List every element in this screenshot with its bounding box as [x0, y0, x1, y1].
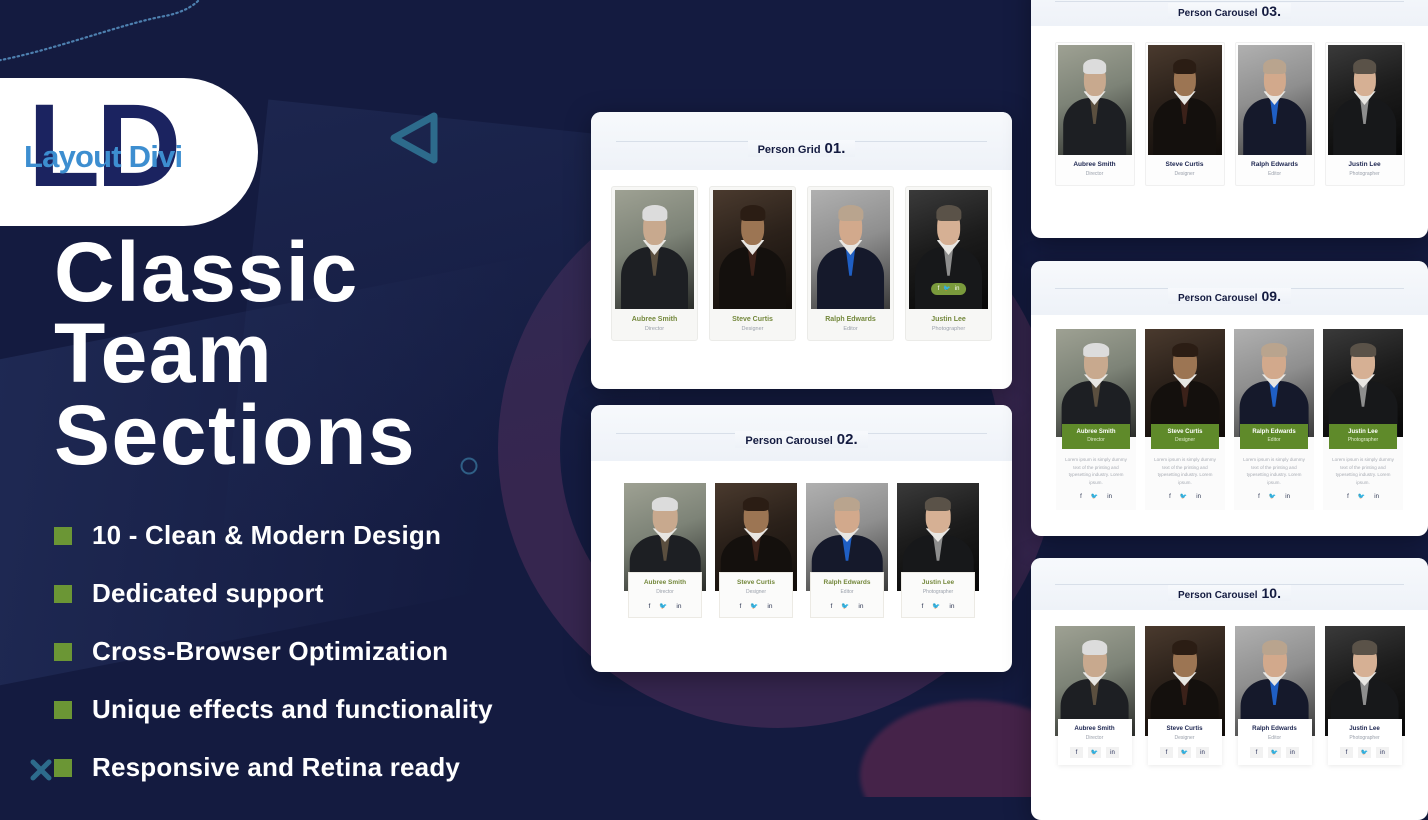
social-links: f🐦in [631, 602, 699, 610]
card-title-number: 09. [1262, 288, 1281, 304]
card-title-label: Person Carousel [1178, 8, 1257, 19]
social-links: f🐦in [1150, 747, 1220, 758]
person-name: Steve Curtis [1153, 429, 1217, 435]
card-body: Aubree SmithDirectorf🐦inSteve CurtisDesi… [591, 461, 1012, 618]
linkedin-icon[interactable]: in [1106, 747, 1119, 758]
person-name: Aubree Smith [1060, 725, 1130, 732]
bullet-square-icon [54, 643, 72, 661]
facebook-icon[interactable]: f [649, 602, 651, 610]
card-header: Person Carousel 09. [1031, 261, 1428, 315]
twitter-icon[interactable]: 🐦 [659, 602, 667, 610]
person-name: Steve Curtis [722, 579, 790, 586]
person-tile[interactable]: Ralph EdwardsEditor [1235, 42, 1315, 186]
social-links: f🐦in [1240, 747, 1310, 758]
person-name: Ralph Edwards [808, 316, 893, 323]
card-title: Person Grid 01. [748, 140, 856, 157]
linkedin-icon[interactable]: in [676, 602, 681, 610]
bullet-square-icon [54, 701, 72, 719]
linkedin-icon[interactable]: in [949, 602, 954, 610]
person-caption: Justin LeePhotographerf🐦in [901, 572, 975, 618]
card-header: Person Grid 01. [591, 112, 1012, 170]
person-role: Director [1060, 735, 1130, 741]
person-role: Editor [813, 589, 881, 595]
card-title-number: 10. [1262, 585, 1281, 601]
social-links: f🐦in [1323, 493, 1403, 510]
linkedin-icon[interactable]: in [858, 602, 863, 610]
twitter-icon[interactable]: 🐦 [1091, 493, 1098, 500]
facebook-icon[interactable]: f [1070, 747, 1083, 758]
person-role: Photographer [1326, 171, 1404, 185]
person-role: Designer [710, 326, 795, 340]
close-x-icon[interactable] [28, 757, 54, 783]
header-rule [1055, 1, 1404, 2]
facebook-icon[interactable]: f [1347, 493, 1349, 500]
facebook-icon[interactable]: f [938, 286, 940, 292]
person-name: Ralph Edwards [1242, 429, 1306, 435]
feature-label: Dedicated support [92, 578, 324, 609]
person-tile[interactable]: Ralph EdwardsEditor [807, 186, 894, 341]
person-name: Ralph Edwards [813, 579, 881, 586]
person-role: Photographer [906, 326, 991, 340]
social-links: f🐦in [904, 602, 972, 610]
twitter-icon[interactable]: 🐦 [932, 602, 940, 610]
portrait-steve-curtis [1145, 329, 1225, 437]
person-role: Editor [1236, 171, 1314, 185]
twitter-icon[interactable]: 🐦 [1180, 493, 1187, 500]
person-tile[interactable]: Aubree SmithDirectorf🐦in [624, 483, 706, 618]
logo-inner: LD Layout Divi [28, 91, 228, 213]
social-links: f🐦in [813, 602, 881, 610]
linkedin-icon[interactable]: in [1374, 493, 1379, 500]
portrait-justin-lee [1328, 45, 1402, 155]
card-body: Aubree SmithDirectorf🐦inSteve CurtisDesi… [1031, 610, 1428, 765]
linkedin-icon[interactable]: in [1196, 747, 1209, 758]
person-role: Director [631, 589, 699, 595]
person-name-bar: Ralph EdwardsEditor [1240, 424, 1308, 449]
person-name: Justin Lee [1326, 161, 1404, 168]
portrait-aubree-smith [1056, 329, 1136, 437]
person-name: Steve Curtis [710, 316, 795, 323]
person-role: Director [1056, 171, 1134, 185]
person-tile[interactable]: Justin LeePhotographer [1325, 42, 1405, 186]
twitter-icon[interactable]: 🐦 [1358, 747, 1371, 758]
card-title-number: 01. [825, 140, 846, 157]
person-tile[interactable]: Aubree SmithDirector [1055, 42, 1135, 186]
feature-label: Cross-Browser Optimization [92, 636, 448, 667]
bullet-square-icon [54, 527, 72, 545]
card-title-number: 02. [837, 431, 858, 448]
card-title-label: Person Carousel [745, 435, 832, 447]
preview-card-person-grid-01[interactable]: Person Grid 01. Aubree SmithDirectorStev… [591, 112, 1012, 389]
card-title: Person Carousel 09. [1168, 288, 1291, 304]
preview-card-person-carousel-03[interactable]: Person Carousel 03. Aubree SmithDirector… [1031, 0, 1428, 238]
person-tile[interactable]: Ralph EdwardsEditorf🐦in [806, 483, 888, 618]
person-role: Editor [808, 326, 893, 340]
facebook-icon[interactable]: f [1340, 747, 1353, 758]
preview-card-person-carousel-10[interactable]: Person Carousel 10. Aubree SmithDirector… [1031, 558, 1428, 820]
person-tile[interactable]: Justin LeePhotographerf🐦in [1325, 626, 1405, 765]
person-tile[interactable]: Ralph EdwardsEditorf🐦in [1235, 626, 1315, 765]
twitter-icon[interactable]: 🐦 [1178, 747, 1191, 758]
twitter-icon[interactable]: 🐦 [1269, 493, 1276, 500]
person-tile[interactable]: Steve CurtisDesigner [709, 186, 796, 341]
facebook-icon[interactable]: f [1080, 493, 1082, 500]
card-title: Person Carousel 10. [1168, 585, 1291, 601]
person-caption: Aubree SmithDirectorf🐦in [1058, 719, 1132, 765]
person-role: Editor [1242, 437, 1306, 443]
social-links: f🐦in [722, 602, 790, 610]
person-role: Designer [1150, 735, 1220, 741]
person-tile[interactable]: Justin LeePhotographerf🐦in [897, 483, 979, 618]
card-title-label: Person Carousel [1178, 293, 1257, 304]
twitter-icon[interactable]: 🐦 [943, 286, 950, 292]
social-links: f🐦in [1056, 493, 1136, 510]
person-role: Designer [1146, 171, 1224, 185]
portrait-steve-curtis [713, 190, 792, 309]
portrait-ralph-edwards [1234, 329, 1314, 437]
portrait-ralph-edwards [811, 190, 890, 309]
person-name: Justin Lee [906, 316, 991, 323]
person-caption: Ralph EdwardsEditorf🐦in [1238, 719, 1312, 765]
page-title: Classic Team Sections [54, 232, 594, 476]
person-role: Photographer [904, 589, 972, 595]
person-caption: Aubree SmithDirectorf🐦in [628, 572, 702, 618]
person-description: Lorem ipsum is simply dummy text of the … [1323, 449, 1403, 486]
list-item: Cross-Browser Optimization [54, 636, 594, 667]
person-name: Aubree Smith [631, 579, 699, 586]
person-caption: Steve CurtisDesignerf🐦in [719, 572, 793, 618]
feature-label: Unique effects and functionality [92, 694, 493, 725]
facebook-icon[interactable]: f [1250, 747, 1263, 758]
person-tile[interactable]: Justin LeePhotographerLorem ipsum is sim… [1323, 329, 1403, 510]
list-item: Responsive and Retina ready [54, 752, 594, 783]
portrait-ralph-edwards [1238, 45, 1312, 155]
list-item: 10 - Clean & Modern Design [54, 520, 594, 551]
person-role: Designer [1153, 437, 1217, 443]
card-header: Person Carousel 02. [591, 405, 1012, 461]
linkedin-icon[interactable]: in [955, 286, 960, 292]
person-tile[interactable]: Steve CurtisDesignerf🐦in [1145, 626, 1225, 765]
person-name: Ralph Edwards [1240, 725, 1310, 732]
list-item: Dedicated support [54, 578, 594, 609]
card-title-label: Person Grid [758, 144, 821, 156]
person-caption: Steve CurtisDesignerf🐦in [1148, 719, 1222, 765]
twitter-icon[interactable]: 🐦 [1088, 747, 1101, 758]
facebook-icon[interactable]: f [1169, 493, 1171, 500]
person-tile[interactable]: Aubree SmithDirector [611, 186, 698, 341]
bullet-square-icon [54, 585, 72, 603]
feature-label: 10 - Clean & Modern Design [92, 520, 441, 551]
person-name: Aubree Smith [1056, 161, 1134, 168]
card-title-label: Person Carousel [1178, 590, 1257, 601]
person-tile[interactable]: Steve CurtisDesignerLorem ipsum is simpl… [1145, 329, 1225, 510]
person-name: Steve Curtis [1150, 725, 1220, 732]
portrait-justin-lee [1323, 329, 1403, 437]
hero-content: Classic Team Sections 10 - Clean & Moder… [54, 232, 594, 810]
twitter-icon[interactable]: 🐦 [1358, 493, 1365, 500]
feature-list: 10 - Clean & Modern Design Dedicated sup… [54, 520, 594, 783]
person-name: Justin Lee [1330, 725, 1400, 732]
preview-card-person-carousel-02[interactable]: Person Carousel 02. Aubree SmithDirector… [591, 405, 1012, 672]
linkedin-icon[interactable]: in [1107, 493, 1112, 500]
person-description: Lorem ipsum is simply dummy text of the … [1145, 449, 1225, 486]
card-header: Person Carousel 10. [1031, 558, 1428, 610]
card-title-number: 03. [1262, 3, 1281, 19]
person-role: Editor [1240, 735, 1310, 741]
person-tile[interactable]: Aubree SmithDirectorf🐦in [1055, 626, 1135, 765]
portrait-aubree-smith [615, 190, 694, 309]
facebook-icon[interactable]: f [1160, 747, 1173, 758]
card-title: Person Carousel 02. [735, 431, 867, 448]
bullet-square-icon [54, 759, 72, 777]
person-role: Director [612, 326, 697, 340]
person-caption: Ralph EdwardsEditorf🐦in [810, 572, 884, 618]
linkedin-icon[interactable]: in [1286, 747, 1299, 758]
feature-label: Responsive and Retina ready [92, 752, 460, 783]
person-name: Justin Lee [1331, 429, 1395, 435]
portrait-steve-curtis [1148, 45, 1222, 155]
logo-badge[interactable]: LD Layout Divi [0, 78, 258, 226]
person-description: Lorem ipsum is simply dummy text of the … [1056, 449, 1136, 486]
person-name: Justin Lee [904, 579, 972, 586]
person-name: Ralph Edwards [1236, 161, 1314, 168]
person-name: Aubree Smith [1064, 429, 1128, 435]
person-tile[interactable]: Aubree SmithDirectorLorem ipsum is simpl… [1056, 329, 1136, 510]
person-role: Photographer [1330, 735, 1400, 741]
card-body: Aubree SmithDirectorLorem ipsum is simpl… [1031, 315, 1428, 510]
person-role: Photographer [1331, 437, 1395, 443]
facebook-icon[interactable]: f [922, 602, 924, 610]
person-caption: Justin LeePhotographerf🐦in [1328, 719, 1402, 765]
person-tile[interactable]: Steve CurtisDesignerf🐦in [715, 483, 797, 618]
linkedin-icon[interactable]: in [1285, 493, 1290, 500]
linkedin-icon[interactable]: in [1376, 747, 1389, 758]
linkedin-icon[interactable]: in [1196, 493, 1201, 500]
social-links: f🐦in [1234, 493, 1314, 510]
card-body: Aubree SmithDirectorSteve CurtisDesigner… [1031, 26, 1428, 186]
person-tile[interactable]: Steve CurtisDesigner [1145, 42, 1225, 186]
person-description: Lorem ipsum is simply dummy text of the … [1234, 449, 1314, 486]
list-item: Unique effects and functionality [54, 694, 594, 725]
triangle-left-icon [386, 108, 444, 166]
social-links: f🐦in [1060, 747, 1130, 758]
card-header: Person Carousel 03. [1031, 0, 1428, 26]
social-links: f🐦in [1145, 493, 1225, 510]
twitter-icon[interactable]: 🐦 [750, 602, 758, 610]
facebook-icon[interactable]: f [831, 602, 833, 610]
dotted-curve-decoration [0, 0, 260, 70]
card-title: Person Carousel 03. [1168, 3, 1291, 19]
card-body: Aubree SmithDirectorSteve CurtisDesigner… [591, 170, 1012, 341]
person-role: Designer [722, 589, 790, 595]
portrait-aubree-smith [1058, 45, 1132, 155]
person-name: Aubree Smith [612, 316, 697, 323]
person-tile[interactable]: Ralph EdwardsEditorLorem ipsum is simply… [1234, 329, 1314, 510]
person-name-bar: Aubree SmithDirector [1062, 424, 1130, 449]
facebook-icon[interactable]: f [740, 602, 742, 610]
twitter-icon[interactable]: 🐦 [841, 602, 849, 610]
social-links: f🐦in [1330, 747, 1400, 758]
person-name-bar: Steve CurtisDesigner [1151, 424, 1219, 449]
preview-card-person-carousel-09[interactable]: Person Carousel 09. Aubree SmithDirector… [1031, 261, 1428, 536]
portrait-justin-lee: f🐦in [909, 190, 988, 309]
person-role: Director [1064, 437, 1128, 443]
social-links-pill: f🐦in [931, 283, 967, 295]
facebook-icon[interactable]: f [1258, 493, 1260, 500]
person-tile[interactable]: f🐦inJustin LeePhotographer [905, 186, 992, 341]
person-name-bar: Justin LeePhotographer [1329, 424, 1397, 449]
person-name: Steve Curtis [1146, 161, 1224, 168]
logo-wordmark: Layout Divi [24, 141, 182, 172]
twitter-icon[interactable]: 🐦 [1268, 747, 1281, 758]
linkedin-icon[interactable]: in [767, 602, 772, 610]
